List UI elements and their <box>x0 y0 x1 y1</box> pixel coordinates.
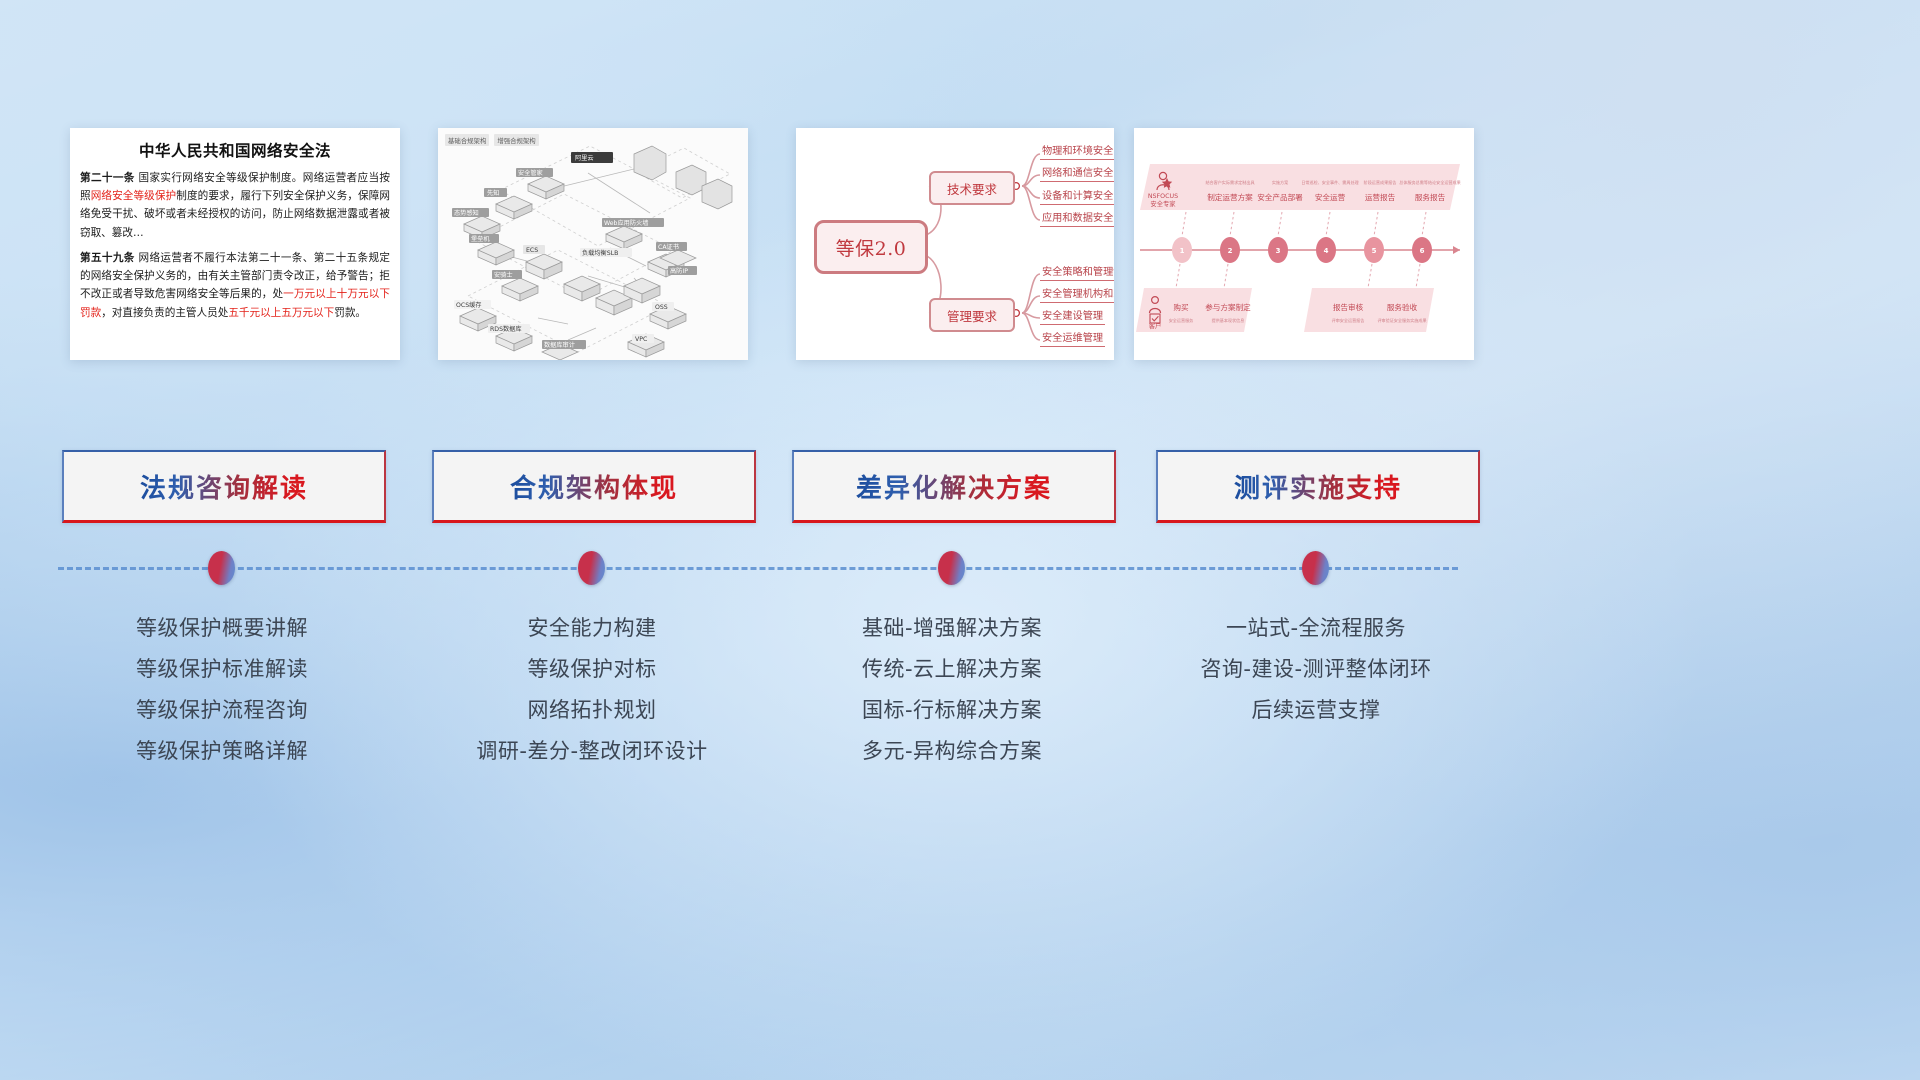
list-item: 等级保护对标 <box>412 649 772 690</box>
svg-text:安骑士: 安骑士 <box>494 271 513 279</box>
list-item: 国标-行标解决方案 <box>772 690 1132 731</box>
svg-text:OCS缓存: OCS缓存 <box>456 301 482 309</box>
svg-text:服务报告: 服务报告 <box>1415 192 1446 202</box>
card-nsfocus-process: 1 2 3 4 5 6 <box>1134 128 1474 360</box>
svg-text:客户: 客户 <box>1149 321 1162 330</box>
svg-text:先知: 先知 <box>487 189 499 197</box>
svg-text:阿里云: 阿里云 <box>575 154 594 162</box>
stage-button-regulation-consulting[interactable]: 法规咨询解读 <box>62 450 386 523</box>
svg-text:4: 4 <box>1324 247 1329 255</box>
mindmap-branch-technical: 技术要求 <box>929 171 1015 205</box>
detail-list-assessment-support: 一站式-全流程服务 咨询-建设-测评整体闭环 后续运营支撑 <box>1136 608 1496 731</box>
law-text-highlight: 五千元以上五万元以下 <box>228 307 334 319</box>
svg-text:5: 5 <box>1372 247 1377 255</box>
law-body: 第二十一条 国家实行网络安全等级保护制度。网络运营者应当按照网络安全等级保护制度… <box>70 169 400 322</box>
timeline-dot-1[interactable] <box>208 551 235 585</box>
card-cybersecurity-law: 中华人民共和国网络安全法 第二十一条 国家实行网络安全等级保护制度。网络运营者应… <box>70 128 400 360</box>
svg-text:3: 3 <box>1276 247 1281 255</box>
stage-button-label: 差异化解决方案 <box>856 468 1052 505</box>
reference-cards-row: 中华人民共和国网络安全法 第二十一条 国家实行网络安全等级保护制度。网络运营者应… <box>0 0 1920 430</box>
svg-text:参与方案制定: 参与方案制定 <box>1205 302 1251 312</box>
svg-text:提供基本现状信息: 提供基本现状信息 <box>1212 317 1245 323</box>
nsfocus-timeline: 1 2 3 4 5 6 <box>1134 128 1474 360</box>
list-item: 等级保护流程咨询 <box>42 690 402 731</box>
stage-button-label: 测评实施支持 <box>1234 468 1402 505</box>
svg-text:报告审核: 报告审核 <box>1333 302 1364 312</box>
svg-text:态势感知: 态势感知 <box>454 209 479 217</box>
list-item: 传统-云上解决方案 <box>772 649 1132 690</box>
timeline-dashed-line <box>58 567 1458 570</box>
mindmap-leaf: 应用和数据安全 <box>1040 209 1114 227</box>
svg-text:VPC: VPC <box>635 336 647 343</box>
svg-text:实施方案: 实施方案 <box>1272 179 1288 185</box>
svg-text:1: 1 <box>1180 247 1185 255</box>
law-paragraph: 第二十一条 国家实行网络安全等级保护制度。网络运营者应当按照网络安全等级保护制度… <box>80 169 390 242</box>
law-text: 罚款。 <box>334 307 366 319</box>
mindmap-branch-management: 管理要求 <box>929 298 1015 332</box>
svg-text:OSS: OSS <box>655 304 668 311</box>
svg-text:高防IP: 高防IP <box>670 267 688 275</box>
svg-text:ECS: ECS <box>526 247 538 254</box>
mindmap-leaf: 安全运维管理 <box>1040 329 1105 347</box>
detail-list-regulation-consulting: 等级保护概要讲解 等级保护标准解读 等级保护流程咨询 等级保护策略详解 <box>42 608 402 772</box>
list-item: 等级保护标准解读 <box>42 649 402 690</box>
svg-text:NSFOCUS: NSFOCUS <box>1148 193 1178 200</box>
law-article-number: 第二十一条 <box>80 172 135 184</box>
nsfocus-svg: 1 2 3 4 5 6 <box>1134 128 1474 360</box>
mindmap-leaf: 安全策略和管理制度 <box>1040 263 1114 281</box>
svg-text:总体服务总需等结论安全运营成果: 总体服务总需等结论安全运营成果 <box>1399 179 1460 185</box>
svg-text:安全管家: 安全管家 <box>518 169 543 177</box>
card-cloud-architecture: 基础合规架构 增强合规架构 <box>438 128 748 360</box>
svg-text:RDS数据库: RDS数据库 <box>490 325 522 333</box>
stage-button-assessment-support[interactable]: 测评实施支持 <box>1156 450 1480 523</box>
svg-text:安全运营服务: 安全运营服务 <box>1169 317 1194 323</box>
svg-text:服务验收: 服务验收 <box>1387 302 1418 312</box>
mindmap-leaf: 安全建设管理 <box>1040 307 1105 325</box>
law-text-highlight: 网络安全等级保护 <box>91 190 177 202</box>
stage-button-differentiated-solution[interactable]: 差异化解决方案 <box>792 450 1116 523</box>
law-paragraph: 第五十九条 网络运营者不履行本法第二十一条、第二十五条规定的网络安全保护义务的，… <box>80 249 390 322</box>
svg-text:6: 6 <box>1420 247 1425 255</box>
card-mindmap-dengbao: 等保2.0 技术要求 管理要求 物理和环境安全 网络和通信安全 设备和计算安全 … <box>796 128 1114 360</box>
architecture-svg: 态势感知 先知 安全管家 阿里云 堡垒机 ECS 安骑士 Web应用防火墙 负载… <box>438 128 748 360</box>
svg-text:运营报告: 运营报告 <box>1365 192 1396 202</box>
timeline-dot-3[interactable] <box>938 551 965 585</box>
svg-text:日常巡检、安全事件、需周处理: 日常巡检、安全事件、需周处理 <box>1301 179 1358 185</box>
timeline-dot-4[interactable] <box>1302 551 1329 585</box>
architecture-diagram: 基础合规架构 增强合规架构 <box>438 128 748 360</box>
stage-button-label: 法规咨询解读 <box>140 468 308 505</box>
svg-text:制定运营方案: 制定运营方案 <box>1207 192 1253 202</box>
svg-text:2: 2 <box>1228 247 1233 255</box>
list-item: 一站式-全流程服务 <box>1136 608 1496 649</box>
svg-text:数据库审计: 数据库审计 <box>544 341 575 349</box>
list-item: 后续运营支撑 <box>1136 690 1496 731</box>
law-text: ，对直接负责的主管人员处 <box>101 307 228 319</box>
svg-text:负载均衡SLB: 负载均衡SLB <box>582 249 618 257</box>
mindmap-root: 等保2.0 <box>814 220 928 274</box>
list-item: 多元-异构综合方案 <box>772 731 1132 772</box>
svg-text:阶段运营成果报告: 阶段运营成果报告 <box>1364 179 1397 185</box>
svg-text:安全运营: 安全运营 <box>1315 192 1346 202</box>
svg-text:评审安全运营报告: 评审安全运营报告 <box>1332 317 1365 323</box>
svg-text:安全产品部署: 安全产品部署 <box>1257 192 1303 202</box>
law-title: 中华人民共和国网络安全法 <box>70 139 400 161</box>
svg-text:结合客户实际需求定制出具: 结合客户实际需求定制出具 <box>1205 179 1254 185</box>
stage-button-compliance-architecture[interactable]: 合规架构体现 <box>432 450 756 523</box>
list-item: 等级保护策略详解 <box>42 731 402 772</box>
list-item: 安全能力构建 <box>412 608 772 649</box>
svg-text:购买: 购买 <box>1173 302 1189 312</box>
law-article-number: 第五十九条 <box>80 252 135 264</box>
list-item: 网络拓扑规划 <box>412 690 772 731</box>
detail-list-compliance-architecture: 安全能力构建 等级保护对标 网络拓扑规划 调研-差分-整改闭环设计 <box>412 608 772 772</box>
list-item: 基础-增强解决方案 <box>772 608 1132 649</box>
timeline-dot-2[interactable] <box>578 551 605 585</box>
mindmap-leaf: 物理和环境安全 <box>1040 142 1114 160</box>
detail-list-differentiated-solution: 基础-增强解决方案 传统-云上解决方案 国标-行标解决方案 多元-异构综合方案 <box>772 608 1132 772</box>
svg-text:安全专家: 安全专家 <box>1150 199 1176 208</box>
mindmap-leaf: 设备和计算安全 <box>1040 187 1114 205</box>
list-item: 等级保护概要讲解 <box>42 608 402 649</box>
mindmap-leaf: 网络和通信安全 <box>1040 164 1114 182</box>
stage-button-label: 合规架构体现 <box>510 468 678 505</box>
slide-canvas: 中华人民共和国网络安全法 第二十一条 国家实行网络安全等级保护制度。网络运营者应… <box>0 0 1920 1080</box>
mindmap: 等保2.0 技术要求 管理要求 物理和环境安全 网络和通信安全 设备和计算安全 … <box>796 128 1114 360</box>
svg-text:堡垒机: 堡垒机 <box>471 235 490 243</box>
svg-text:Web应用防火墙: Web应用防火墙 <box>604 219 648 227</box>
mindmap-leaf: 安全管理机构和人员 <box>1040 285 1114 303</box>
svg-text:CA证书: CA证书 <box>658 243 679 251</box>
list-item: 调研-差分-整改闭环设计 <box>412 731 772 772</box>
list-item: 咨询-建设-测评整体闭环 <box>1136 649 1496 690</box>
svg-text:评审验证安全服务实施成果: 评审验证安全服务实施成果 <box>1377 317 1426 323</box>
